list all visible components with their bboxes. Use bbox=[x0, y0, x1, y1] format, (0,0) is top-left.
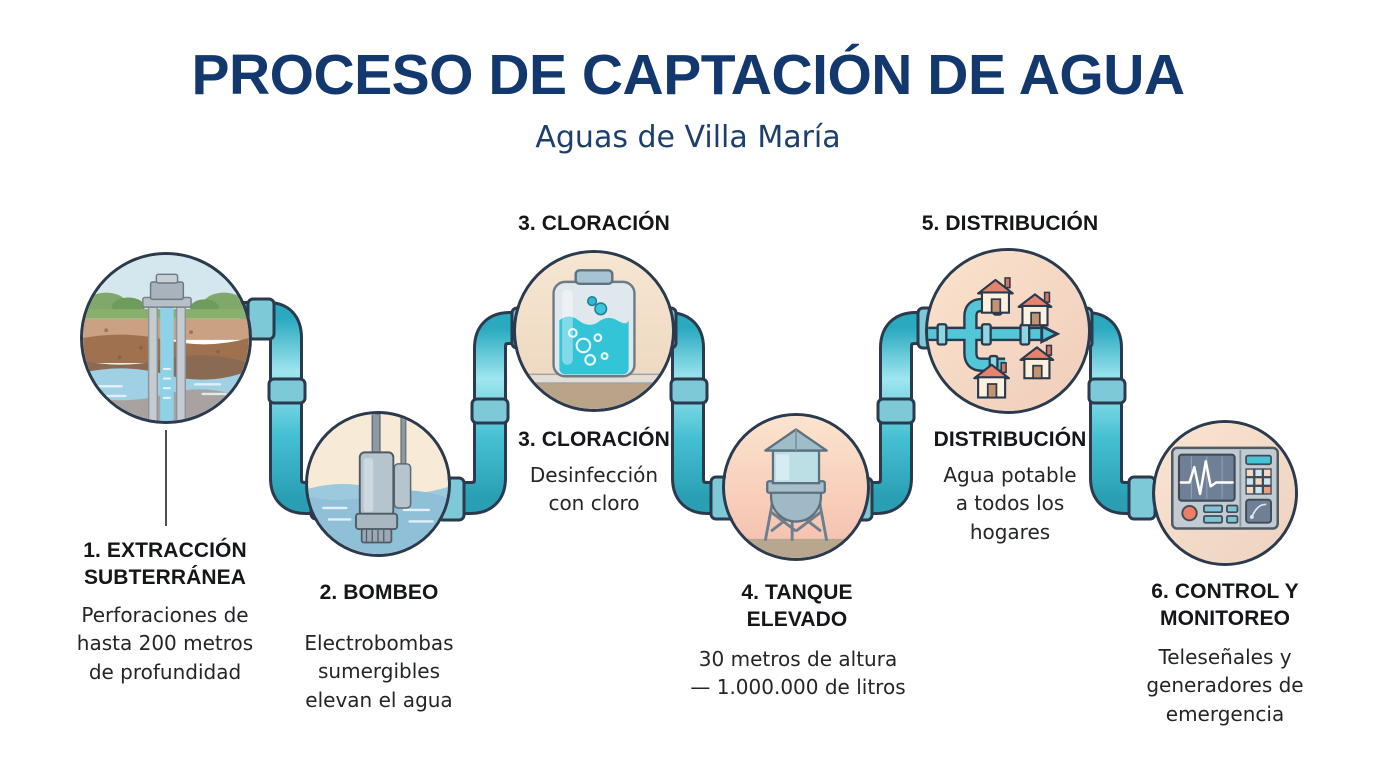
step-title-control: 6. CONTROL Y MONITOREO bbox=[1100, 579, 1350, 633]
step-description-distribucion: Agua potable a todos los hogares bbox=[890, 461, 1130, 546]
water-tower-icon bbox=[725, 416, 867, 558]
submersible-pump-icon bbox=[308, 414, 448, 554]
step-title-bombeo: 2. BOMBEO bbox=[258, 580, 500, 607]
step-description-cloracion: Desinfección con cloro bbox=[470, 461, 718, 518]
step-label-above-distribucion: 5. DISTRIBUCIÓN bbox=[880, 212, 1140, 236]
step-title-extraccion: 1. EXTRACCIÓN SUBTERRÁNEA bbox=[36, 538, 294, 592]
step-description-bombeo: Electrobombas sumergibles elevan el agua bbox=[256, 629, 502, 714]
page-title: PROCESO DE CAPTACIÓN DE AGUA bbox=[0, 42, 1376, 108]
step-description-tanque: 30 metros de altura — 1.000.000 de litro… bbox=[660, 645, 936, 702]
step-circle-bombeo[interactable] bbox=[305, 411, 451, 557]
step-leader-line-extraccion bbox=[165, 430, 167, 526]
control-monitor-icon bbox=[1155, 423, 1295, 563]
well-borehole-icon bbox=[83, 255, 249, 421]
step-title-cloracion: 3. CLORACIÓN bbox=[470, 427, 718, 454]
infographic-canvas: PROCESO DE CAPTACIÓN DE AGUA Aguas de Vi… bbox=[0, 0, 1376, 768]
step-circle-distribucion[interactable] bbox=[925, 248, 1091, 414]
step-circle-control[interactable] bbox=[1152, 420, 1298, 566]
step-circle-tanque[interactable] bbox=[722, 413, 870, 561]
step-title-tanque: 4. TANQUE ELEVADO bbox=[670, 580, 924, 634]
pipe-network-houses-icon bbox=[928, 251, 1088, 411]
step-label-above-cloracion: 3. CLORACIÓN bbox=[470, 212, 718, 236]
page-subtitle: Aguas de Villa María bbox=[0, 120, 1376, 155]
chlorine-tank-icon bbox=[516, 253, 672, 409]
step-circle-cloracion[interactable] bbox=[513, 250, 675, 412]
step-circle-extraccion[interactable] bbox=[80, 252, 252, 424]
step-title-distribucion: DISTRIBUCIÓN bbox=[880, 427, 1140, 454]
step-description-control: Teleseñales y generadores de emergencia bbox=[1104, 643, 1346, 728]
